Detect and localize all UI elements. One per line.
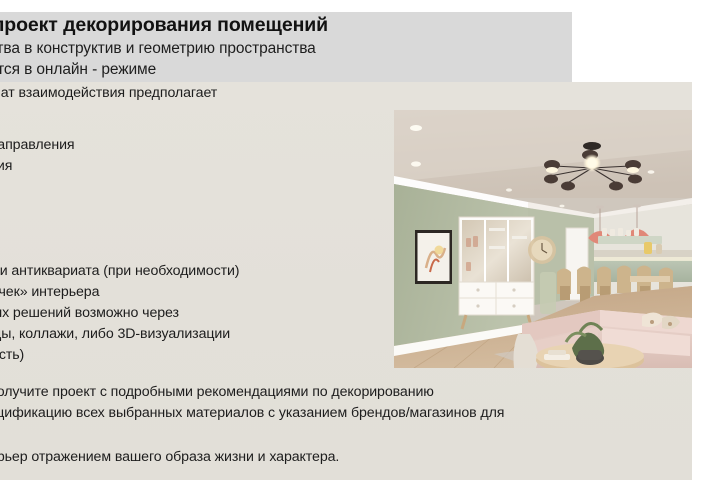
list-item: истического направления: [0, 137, 74, 153]
presentation-slide: ин - проект декорирования помещений ешат…: [0, 0, 720, 480]
summary-line: ьтате вы получите проект с подробными ре…: [0, 384, 434, 400]
slide-text: ин - проект декорирования помещений ешат…: [0, 0, 720, 480]
page-title: ин - проект декорирования помещений: [0, 14, 328, 37]
subtitle-line-2: ведется в онлайн - режиме: [0, 61, 156, 79]
list-item: льную стоимость): [0, 347, 24, 363]
intro-text: формат взаимодействия предполагает: [0, 85, 217, 101]
summary-line: лаем интерьер отражением вашего образа ж…: [0, 449, 339, 465]
list-item: нтов и «фишечек» интерьера: [0, 284, 99, 300]
list-item: вового решения: [0, 158, 12, 174]
summary-line: нства, спецификацию всех выбранных матер…: [0, 405, 504, 421]
list-item: рные мудборды, коллажи, либо 3D-визуализ…: [0, 326, 230, 342]
subtitle-line-1: ешательства в конструктив и геометрию пр…: [0, 40, 316, 58]
list-item: вление готовых решений возможно через: [0, 305, 179, 321]
list-item: метов декора и антиквариата (при необход…: [0, 263, 239, 279]
